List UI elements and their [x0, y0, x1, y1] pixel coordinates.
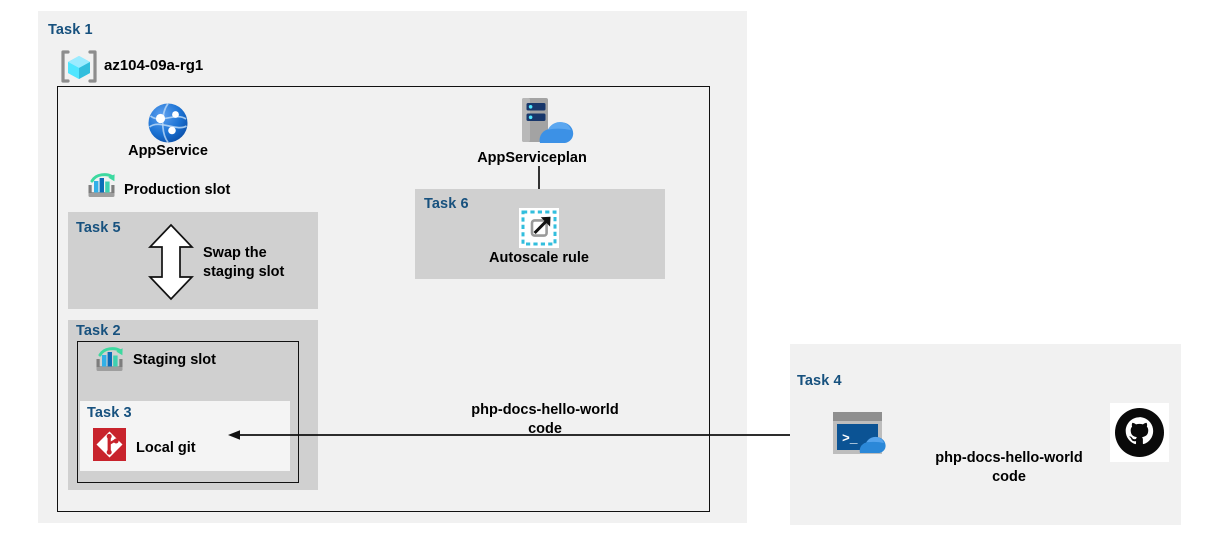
- task5-label: Task 5: [76, 220, 121, 236]
- code-flow-label-right: php-docs-hello-world code: [925, 449, 1093, 486]
- swap-action-label: Swap the staging slot: [203, 244, 284, 281]
- local-git-label: Local git: [136, 439, 196, 457]
- app-service-plan-icon: [512, 96, 572, 148]
- svg-text:>_: >_: [842, 431, 858, 446]
- production-slot-label: Production slot: [124, 181, 230, 199]
- cloud-shell-icon: >_: [832, 411, 902, 457]
- app-service-plan-label: AppServiceplan: [471, 149, 593, 167]
- task2-label: Task 2: [76, 323, 121, 339]
- task6-label: Task 6: [424, 196, 469, 212]
- deployment-slot-icon: [87, 173, 119, 201]
- deployment-slot-icon: [95, 347, 127, 375]
- swap-line-1: Swap the: [203, 244, 284, 263]
- task3-label: Task 3: [87, 405, 132, 421]
- code-flow-right-line-2: code: [925, 468, 1093, 487]
- github-icon: [1110, 403, 1169, 462]
- resource-group-icon: [59, 49, 99, 84]
- staging-slot-label: Staging slot: [133, 351, 216, 369]
- resource-group-name: az104-09a-rg1: [104, 57, 203, 76]
- swap-updown-arrow-icon: [148, 224, 194, 300]
- autoscale-icon: [519, 208, 559, 248]
- code-flow-right-line-1: php-docs-hello-world: [925, 449, 1093, 468]
- git-icon: [93, 428, 126, 461]
- swap-line-2: staging slot: [203, 263, 284, 282]
- task4-label: Task 4: [797, 373, 842, 389]
- task1-label: Task 1: [48, 22, 93, 38]
- app-service-icon: [147, 102, 189, 144]
- app-service-label: AppService: [122, 142, 214, 160]
- diagram-canvas: Task 1 az104-09a-rg1: [0, 0, 1218, 545]
- autoscale-rule-label: Autoscale rule: [478, 249, 600, 267]
- code-flow-left-line-1: php-docs-hello-world: [462, 401, 628, 420]
